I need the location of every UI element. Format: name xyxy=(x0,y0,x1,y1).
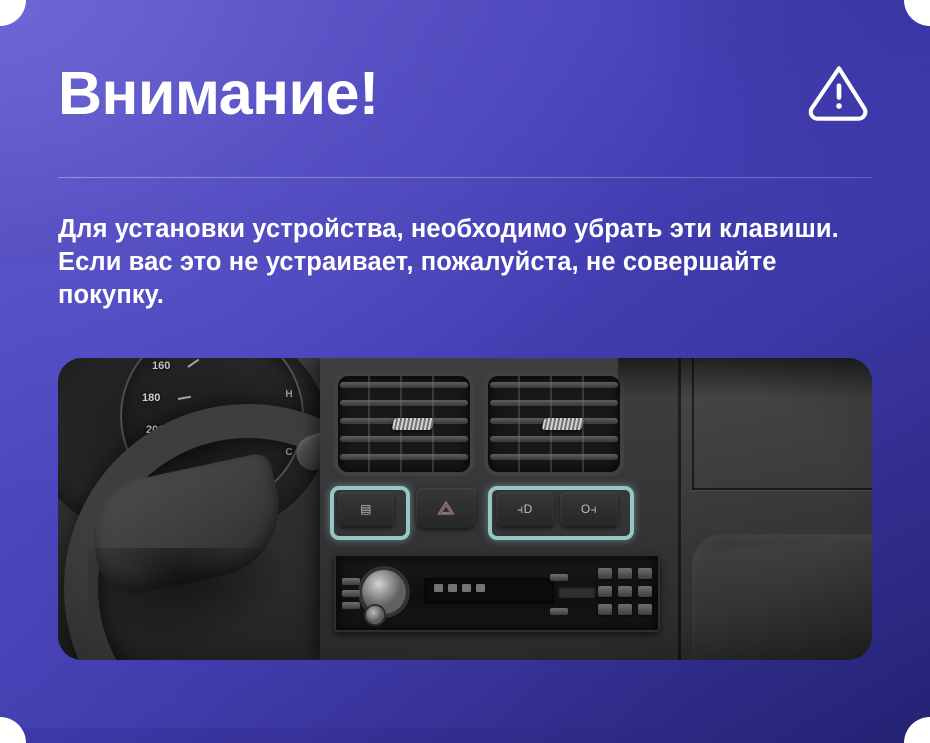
center-console: ▤ ⫞D O⫞ xyxy=(320,358,680,660)
front-fog-light-button[interactable]: ⫞D xyxy=(496,492,554,526)
dashboard-photo-image: km/h 140 160 180 200 HC xyxy=(58,358,872,660)
stereo-preset-2[interactable] xyxy=(618,568,632,579)
dashboard-button-strip: ▤ ⫞D O⫞ xyxy=(330,486,670,532)
description-line-2: Если вас это не устраивает, пожалуйста, … xyxy=(58,246,878,279)
stereo-preset-8[interactable] xyxy=(618,604,632,615)
air-vent-right-thumbwheel xyxy=(542,418,585,430)
air-vent-left-thumbwheel xyxy=(392,418,435,430)
page-title: Внимание! xyxy=(58,63,379,124)
header-divider xyxy=(58,177,872,178)
gauge-number-160: 160 xyxy=(152,360,170,372)
hazard-triangle-icon xyxy=(437,500,455,516)
rear-fog-light-button[interactable]: O⫞ xyxy=(560,492,618,526)
glovebox-lid xyxy=(692,534,872,660)
description-text: Для установки устройства, необходимо убр… xyxy=(58,213,878,312)
rear-defog-icon: ▤ xyxy=(360,502,372,516)
windshield-shadow xyxy=(618,358,872,398)
stereo-preset-3[interactable] xyxy=(638,568,652,579)
air-vent-left xyxy=(334,372,474,476)
passenger-dashboard-panel xyxy=(678,358,872,660)
stereo-preset-5[interactable] xyxy=(618,586,632,597)
corner-notch-bottom-right xyxy=(904,717,930,743)
speed-unit-label: km/h xyxy=(58,358,71,361)
description-line-1: Для установки устройства, необходимо убр… xyxy=(58,213,878,246)
stereo-preset-9[interactable] xyxy=(638,604,652,615)
dash-seam-vertical-1 xyxy=(678,358,681,660)
rear-defog-button[interactable]: ▤ xyxy=(338,492,394,526)
stereo-side-key-1[interactable] xyxy=(342,578,360,585)
corner-notch-top-left xyxy=(0,0,26,26)
description-line-3: покупку. xyxy=(58,279,878,312)
rear-fog-light-icon: O⫞ xyxy=(581,502,597,517)
stereo-preset-1[interactable] xyxy=(598,568,612,579)
corner-notch-top-right xyxy=(904,0,930,26)
dashboard-photo: km/h 140 160 180 200 HC xyxy=(58,358,872,660)
gauge-number-180: 180 xyxy=(142,392,160,404)
hazard-lights-button[interactable] xyxy=(416,488,476,528)
front-fog-light-icon: ⫞D xyxy=(517,502,533,517)
stereo-side-key-2[interactable] xyxy=(342,590,360,597)
stereo-side-key-3[interactable] xyxy=(342,602,360,609)
stereo-preset-4[interactable] xyxy=(598,586,612,597)
stereo-side-key-4[interactable] xyxy=(550,574,568,581)
warning-banner: Внимание! Для установки устройства, необ… xyxy=(0,0,930,743)
stereo-preset-7[interactable] xyxy=(598,604,612,615)
car-stereo-head-unit[interactable] xyxy=(334,554,660,632)
corner-notch-bottom-left xyxy=(0,717,26,743)
stereo-preset-6[interactable] xyxy=(638,586,652,597)
steering-wheel-shadow xyxy=(88,548,308,660)
stereo-side-key-5[interactable] xyxy=(550,608,568,615)
warning-triangle-icon xyxy=(808,62,870,124)
usb-slot xyxy=(558,586,596,598)
secondary-knob[interactable] xyxy=(366,606,384,624)
stereo-display xyxy=(424,578,554,604)
banner-header: Внимание! xyxy=(58,56,872,130)
air-vent-right xyxy=(484,372,624,476)
dash-seam-horizontal xyxy=(692,488,872,490)
